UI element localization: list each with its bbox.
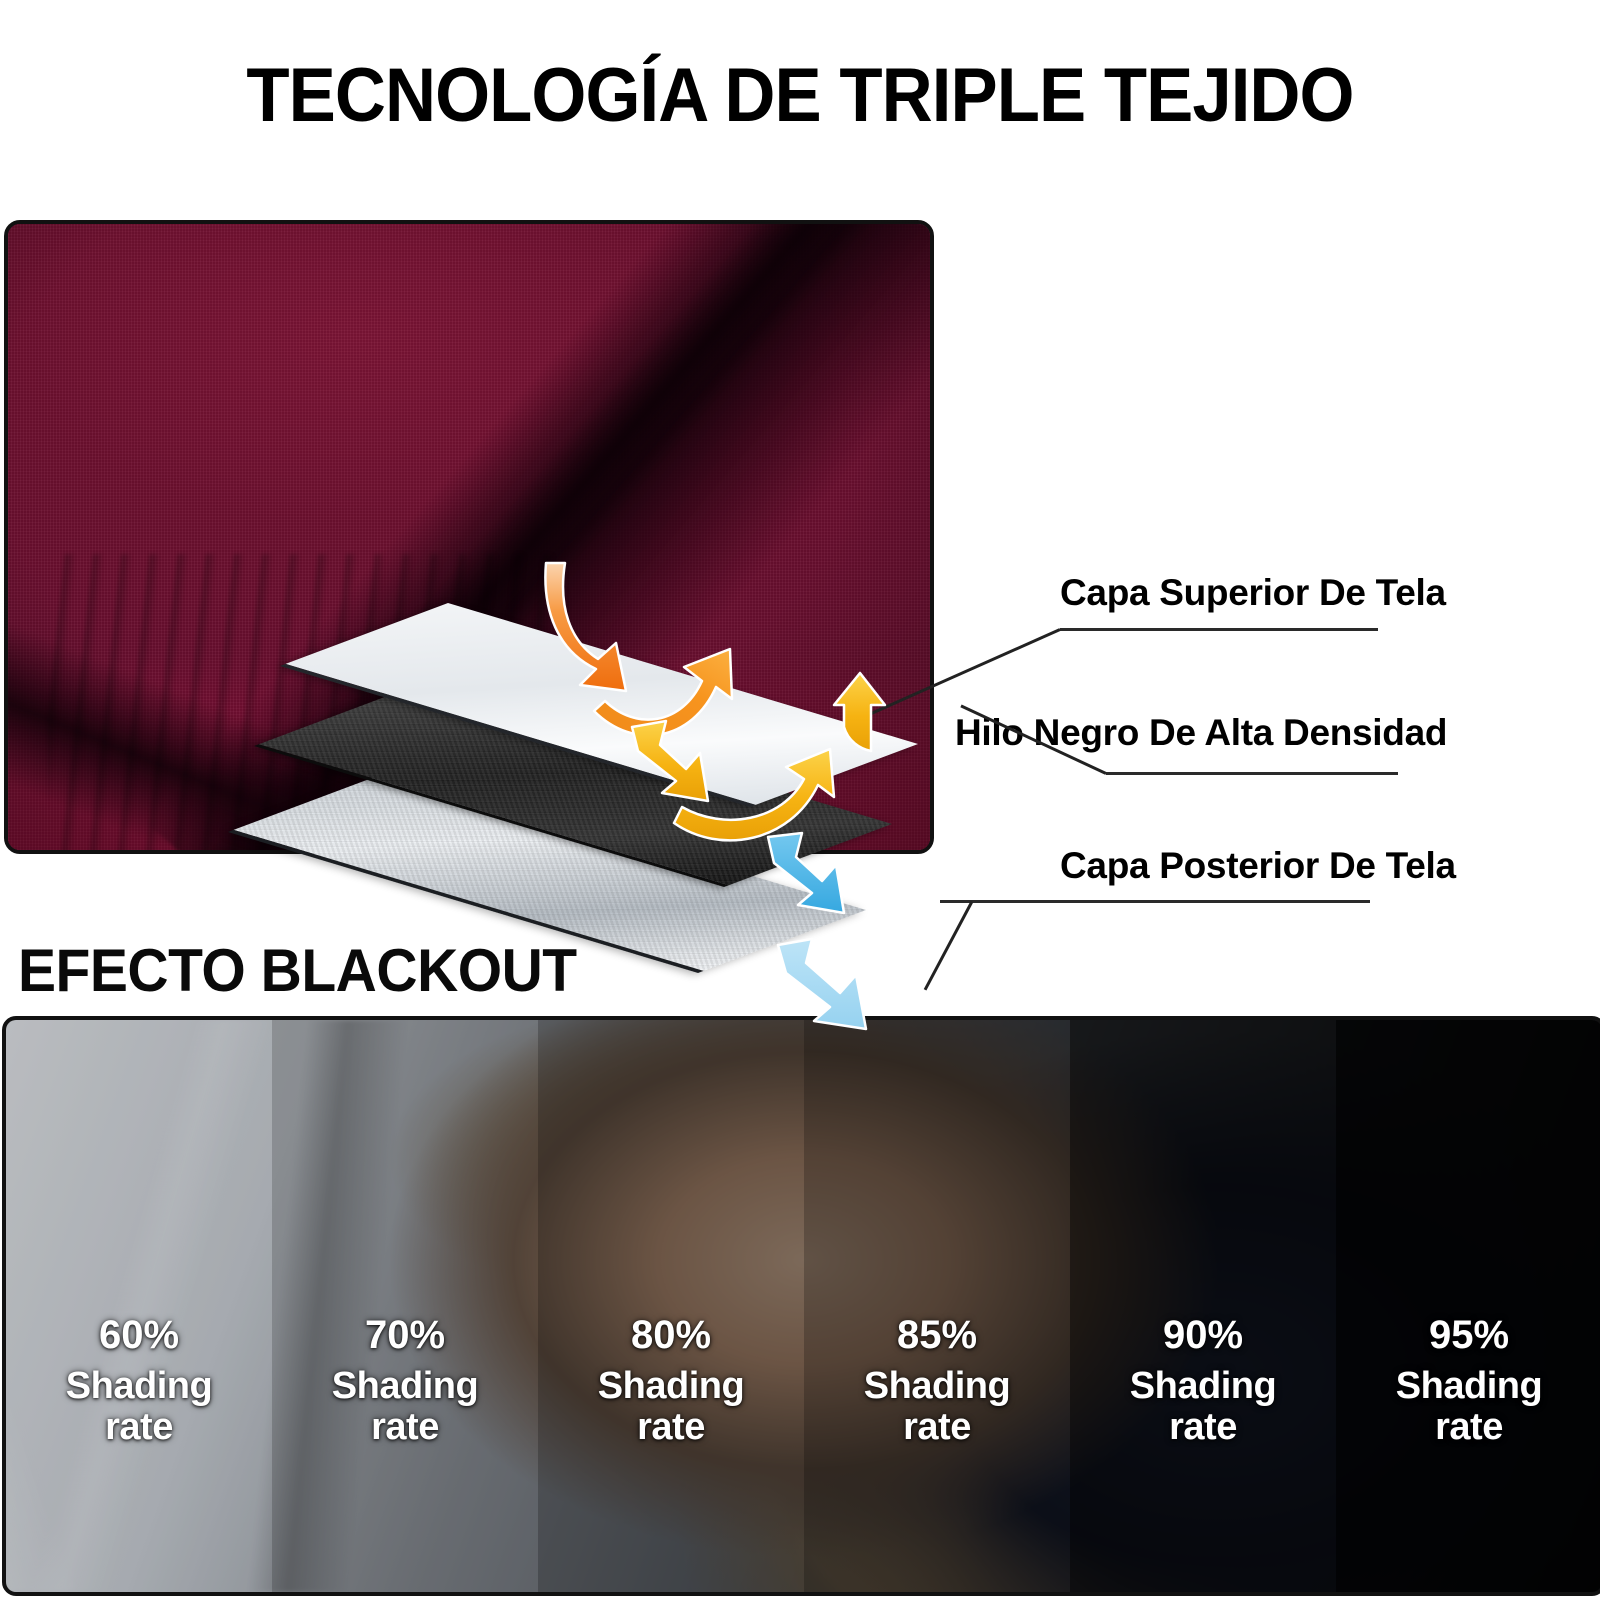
shading-panel: 85% Shading rate	[804, 1020, 1070, 1592]
shading-label-line2: rate	[1396, 1407, 1542, 1448]
shade-overlay	[1070, 1020, 1336, 1592]
shading-panel-text: 95% Shading rate	[1396, 1314, 1542, 1448]
shading-percent: 90%	[1130, 1314, 1276, 1357]
shading-panel-text: 60% Shading rate	[66, 1314, 212, 1448]
shading-label-line2: rate	[598, 1407, 744, 1448]
blackout-effect-strip: 60% Shading rate 70% Shading rate 80% Sh…	[2, 1016, 1600, 1596]
shading-panel-text: 85% Shading rate	[864, 1314, 1010, 1448]
shading-label-line1: Shading	[332, 1366, 478, 1407]
shading-label-line2: rate	[1130, 1407, 1276, 1448]
shading-panel: 95% Shading rate	[1336, 1020, 1600, 1592]
label-capa-posterior-de-tela: Capa Posterior De Tela	[1060, 845, 1456, 887]
triple-weave-layer-diagram	[430, 555, 1050, 1035]
shading-label-line2: rate	[864, 1407, 1010, 1448]
leader-line-top-horizontal	[1060, 628, 1378, 631]
label-capa-superior-de-tela: Capa Superior De Tela	[1060, 572, 1446, 614]
label-hilo-negro-de-alta-densidad: Hilo Negro De Alta Densidad	[955, 712, 1447, 754]
shade-overlay	[538, 1020, 804, 1592]
shading-label-line2: rate	[66, 1407, 212, 1448]
leader-line-middle-horizontal	[1106, 772, 1398, 775]
shading-percent: 80%	[598, 1314, 744, 1357]
layer-sheet-top-fabric	[448, 603, 918, 813]
shading-label-line2: rate	[332, 1407, 478, 1448]
shading-label-line1: Shading	[864, 1366, 1010, 1407]
shade-overlay	[6, 1020, 272, 1592]
shading-panel-text: 70% Shading rate	[332, 1314, 478, 1448]
shading-panel: 60% Shading rate	[6, 1020, 272, 1592]
shade-overlay	[272, 1020, 538, 1592]
shading-percent: 95%	[1396, 1314, 1542, 1357]
shading-panel: 70% Shading rate	[272, 1020, 538, 1592]
shading-panel: 90% Shading rate	[1070, 1020, 1336, 1592]
shading-percent: 70%	[332, 1314, 478, 1357]
shading-label-line1: Shading	[598, 1366, 744, 1407]
shading-percent: 85%	[864, 1314, 1010, 1357]
page-title: TECNOLOGÍA DE TRIPLE TEJIDO	[56, 52, 1544, 139]
shading-panel-text: 90% Shading rate	[1130, 1314, 1276, 1448]
shading-label-line1: Shading	[1130, 1366, 1276, 1407]
shading-label-line1: Shading	[1396, 1366, 1542, 1407]
shade-overlay	[804, 1020, 1070, 1592]
shading-panel: 80% Shading rate	[538, 1020, 804, 1592]
shade-overlay	[1336, 1020, 1600, 1592]
leader-line-back-horizontal	[940, 900, 1370, 903]
shading-panel-text: 80% Shading rate	[598, 1314, 744, 1448]
shading-percent: 60%	[66, 1314, 212, 1357]
shading-label-line1: Shading	[66, 1366, 212, 1407]
